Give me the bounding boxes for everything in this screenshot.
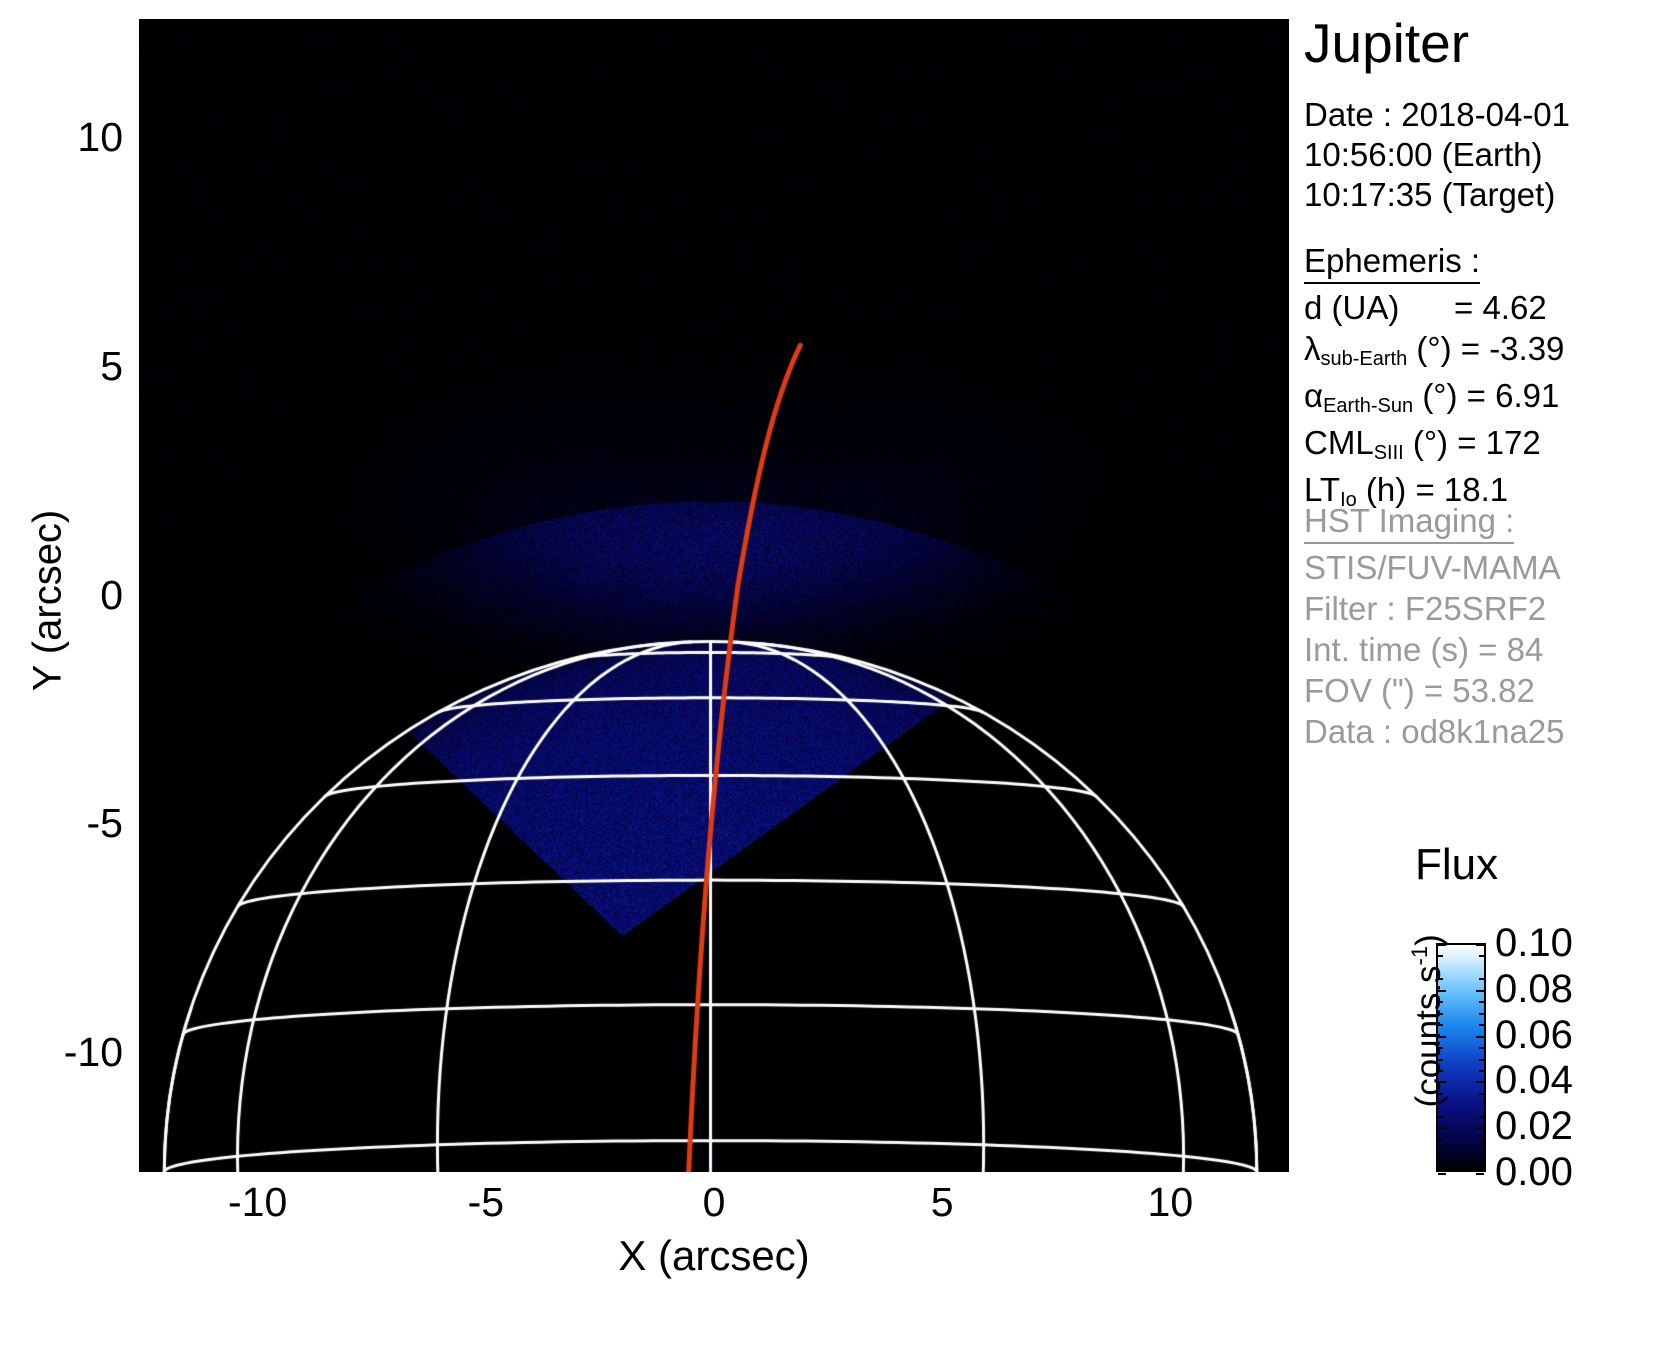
x-tick-5: 5	[931, 1182, 954, 1223]
colorbar-tick-minor	[1479, 1001, 1484, 1003]
observation-block: Date : 2018-04-01 10:56:00 (Earth) 10:17…	[1304, 95, 1570, 215]
colorbar-tick-minor	[1479, 1093, 1484, 1095]
ephemeris-value-distance: = 4.62	[1454, 289, 1547, 326]
colorbar-tick-minor	[1479, 1116, 1484, 1118]
cml-key: CML	[1304, 424, 1374, 461]
colorbar-tick-major	[1476, 1127, 1484, 1129]
ephemeris-row-lambda: λsub-Earth (°) = -3.39	[1304, 328, 1564, 375]
colorbar-tick-label: 0.06	[1495, 1015, 1573, 1055]
lambda-value: = -3.39	[1461, 330, 1565, 367]
lambda-unit: (°)	[1416, 330, 1451, 367]
colorbar-unit-suffix: )	[1409, 934, 1448, 946]
lambda-symbol: λ	[1304, 330, 1321, 367]
hst-imaging-heading: HST Imaging :	[1304, 500, 1514, 544]
colorbar-tick-label: 0.10	[1495, 923, 1573, 963]
colorbar-tick-label: 0.04	[1495, 1060, 1573, 1100]
colorbar-tick-major	[1438, 1173, 1446, 1175]
x-tick-m10: -10	[228, 1182, 287, 1223]
y-axis-title: Y (arcsec)	[26, 491, 71, 711]
hst-imaging-block: HST Imaging : STIS/FUV-MAMA Filter : F25…	[1304, 500, 1565, 752]
observation-time-earth: 10:56:00 (Earth)	[1304, 135, 1570, 175]
colorbar-tick-minor	[1479, 1024, 1484, 1026]
colorbar-tick-minor	[1479, 978, 1484, 980]
colorbar-unit-prefix: (counts.s	[1409, 965, 1448, 1107]
colorbar-tick-minor	[1479, 1139, 1484, 1141]
colorbar-tick-major	[1476, 944, 1484, 946]
colorbar-tick-label: 0.02	[1495, 1106, 1573, 1146]
ephemeris-block: Ephemeris : d (UA)= 4.62 λsub-Earth (°) …	[1304, 240, 1564, 516]
observation-date: Date : 2018-04-01	[1304, 95, 1570, 135]
hst-dataset: Data : od8k1na25	[1304, 711, 1565, 752]
cml-unit: (°)	[1413, 424, 1448, 461]
alpha-unit: (°)	[1422, 377, 1457, 414]
alpha-symbol: α	[1304, 377, 1323, 414]
x-tick-10: 10	[1148, 1182, 1194, 1223]
colorbar-tick-major	[1476, 1173, 1484, 1175]
colorbar-unit-label: (counts.s-1)	[1407, 911, 1449, 1131]
cml-subscript: SIII	[1374, 442, 1404, 464]
x-tick-m5: -5	[468, 1182, 504, 1223]
hst-filter: Filter : F25SRF2	[1304, 588, 1565, 629]
x-axis-title: X (arcsec)	[139, 1232, 1289, 1280]
ephemeris-key-distance: d (UA)	[1304, 287, 1454, 328]
colorbar-title: Flux	[1415, 840, 1498, 890]
lambda-subscript: sub-Earth	[1321, 348, 1408, 370]
colorbar-tick-minor	[1479, 1162, 1484, 1164]
page-title: Jupiter	[1304, 12, 1469, 74]
colorbar-tick-minor	[1479, 1070, 1484, 1072]
ephemeris-row-cml: CMLSIII (°) = 172	[1304, 422, 1564, 469]
hst-fov: FOV (") = 53.82	[1304, 670, 1565, 711]
ephemeris-row-alpha: αEarth-Sun (°) = 6.91	[1304, 375, 1564, 422]
x-tick-0: 0	[703, 1182, 726, 1223]
cml-value: = 172	[1457, 424, 1541, 461]
colorbar-tick-minor	[1479, 1013, 1484, 1015]
ephemeris-row-distance: d (UA)= 4.62	[1304, 287, 1564, 328]
alpha-subscript: Earth-Sun	[1323, 395, 1413, 417]
colorbar-tick-minor	[1479, 955, 1484, 957]
colorbar-unit-exponent: -1	[1407, 946, 1432, 966]
colorbar-tick-label: 0.08	[1495, 969, 1573, 1009]
colorbar-tick-minor	[1479, 1059, 1484, 1061]
colorbar-tick-minor	[1438, 1139, 1443, 1141]
hst-integration-time: Int. time (s) = 84	[1304, 629, 1565, 670]
hst-instrument: STIS/FUV-MAMA	[1304, 547, 1565, 588]
ephemeris-heading: Ephemeris :	[1304, 240, 1480, 284]
colorbar-tick-major	[1476, 1081, 1484, 1083]
colorbar-tick-minor	[1479, 1047, 1484, 1049]
alpha-value: = 6.91	[1467, 377, 1560, 414]
colorbar-tick-label: 0.00	[1495, 1152, 1573, 1192]
observation-time-target: 10:17:35 (Target)	[1304, 175, 1570, 215]
colorbar-tick-minor	[1438, 1162, 1443, 1164]
colorbar-tick-major	[1476, 990, 1484, 992]
colorbar-tick-minor	[1479, 1036, 1484, 1038]
